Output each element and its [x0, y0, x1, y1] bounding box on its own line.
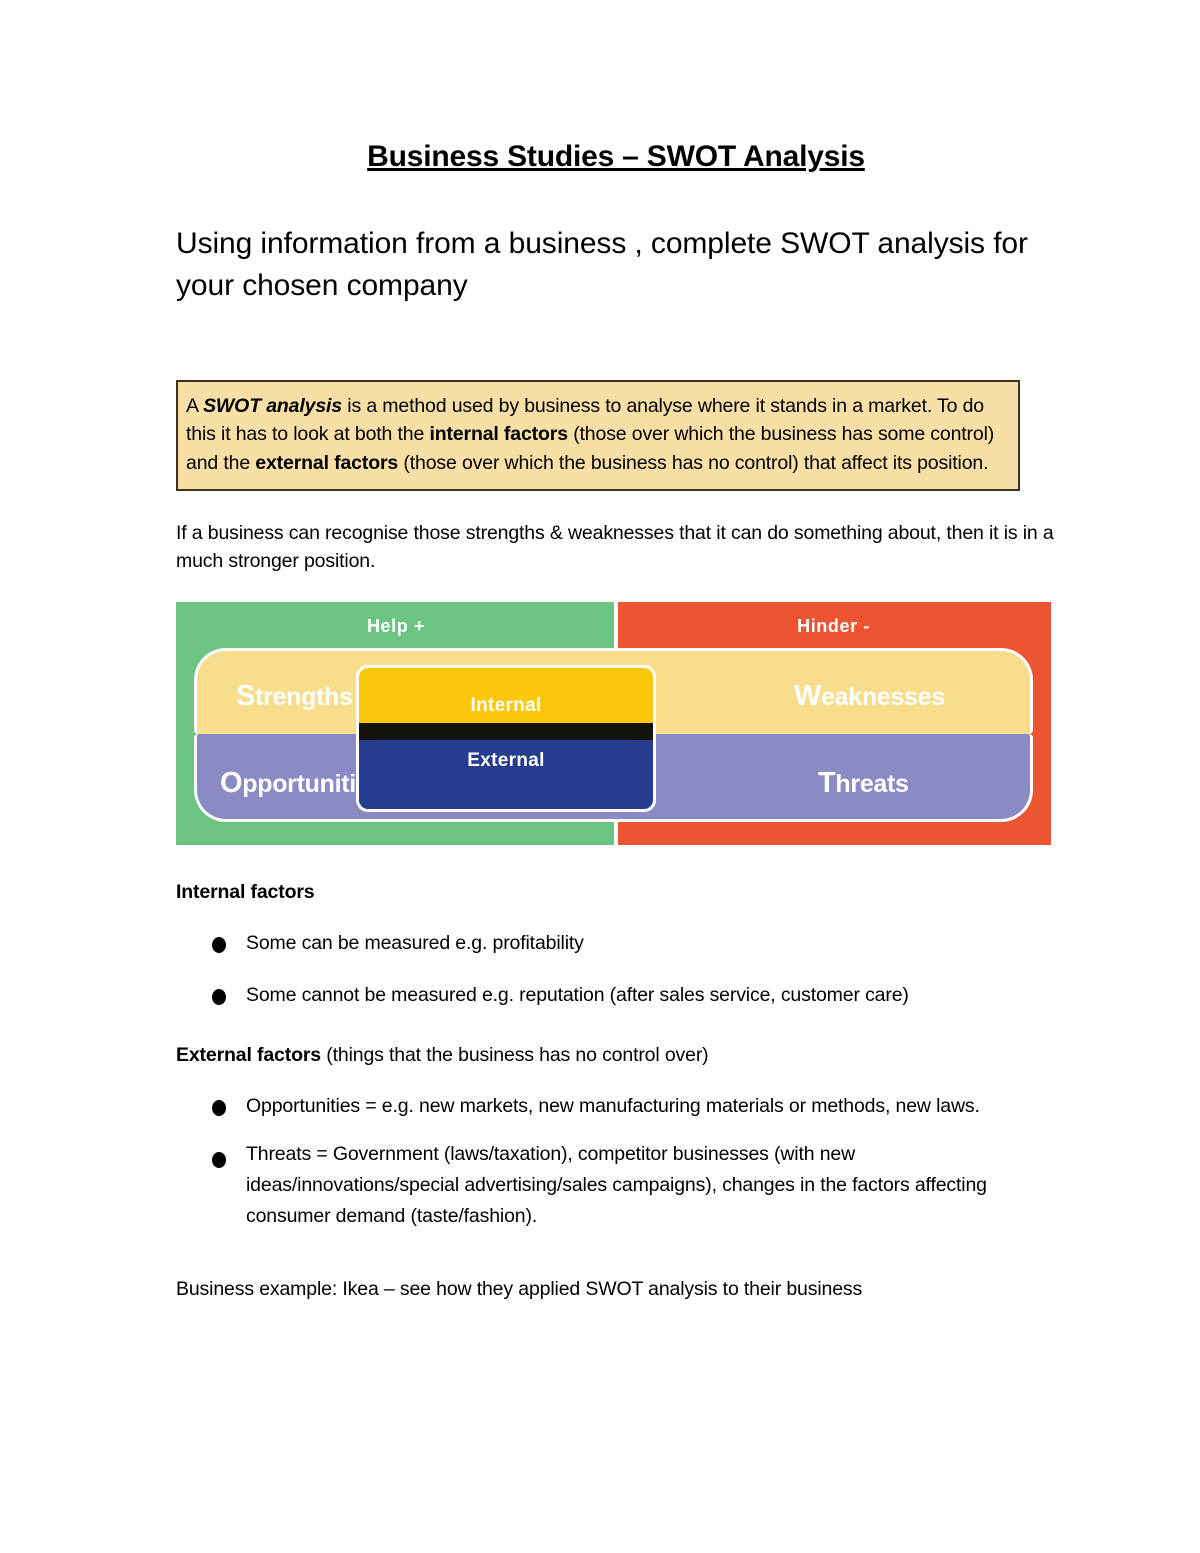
threats-initial: T	[818, 767, 835, 799]
axis-label-hinder: Hinder -	[616, 616, 1051, 637]
intro-paragraph: If a business can recognise those streng…	[176, 491, 1056, 576]
list-item: Some cannot be measured e.g. reputation …	[176, 976, 1056, 1014]
weaknesses-rest: eaknesses	[821, 683, 945, 711]
external-factors-list: Opportunities = e.g. new markets, new ma…	[176, 1067, 1056, 1233]
callout-bold-internal-factors: internal factors	[429, 423, 567, 445]
document-page: Business Studies – SWOT Analysis Using i…	[0, 0, 1200, 1553]
callout-lead: A	[186, 395, 203, 417]
list-item: Some can be measured e.g. profitability	[176, 924, 1056, 962]
threats-rest: hreats	[835, 770, 908, 798]
closing-line: Business example: Ikea – see how they ap…	[176, 1233, 1056, 1304]
quadrant-label-weaknesses: Weaknesses	[794, 680, 945, 713]
page-title: Business Studies – SWOT Analysis	[176, 0, 1056, 175]
quadrant-label-strengths: Strengths	[236, 680, 353, 713]
document-content: Business Studies – SWOT Analysis Using i…	[176, 0, 1056, 1303]
external-heading-bold: External factors	[176, 1044, 321, 1066]
callout-part3: (those over which the business has no co…	[398, 452, 988, 474]
weaknesses-initial: W	[794, 680, 821, 712]
strengths-rest: trengths	[255, 683, 353, 711]
center-axis-stack: Internal External	[356, 665, 656, 812]
internal-factors-heading: Internal factors	[176, 845, 1056, 904]
callout-term-swot-analysis: SWOT analysis	[203, 395, 342, 417]
external-factors-heading: External factors (things that the busine…	[176, 1014, 1056, 1067]
center-label-internal: Internal	[356, 665, 656, 723]
internal-factors-list: Some can be measured e.g. profitability …	[176, 904, 1056, 1014]
center-label-external: External	[356, 740, 656, 812]
opportunities-initial: O	[220, 767, 242, 799]
quadrant-label-threats: Threats	[818, 767, 909, 800]
list-item: Threats = Government (laws/taxation), co…	[176, 1139, 1056, 1233]
callout-bold-external-factors: external factors	[255, 452, 398, 474]
strengths-initial: S	[236, 680, 255, 712]
list-item: Opportunities = e.g. new markets, new ma…	[176, 1087, 1056, 1125]
swot-matrix-diagram: Help + Hinder - Strengths Weaknesses Opp…	[176, 602, 1051, 845]
center-black-divider	[356, 723, 656, 740]
swot-definition-callout: A SWOT analysis is a method used by busi…	[176, 380, 1020, 491]
page-subtitle: Using information from a business , comp…	[176, 175, 1036, 308]
external-heading-rest: (things that the business has no control…	[321, 1044, 709, 1066]
axis-label-help: Help +	[176, 616, 616, 637]
